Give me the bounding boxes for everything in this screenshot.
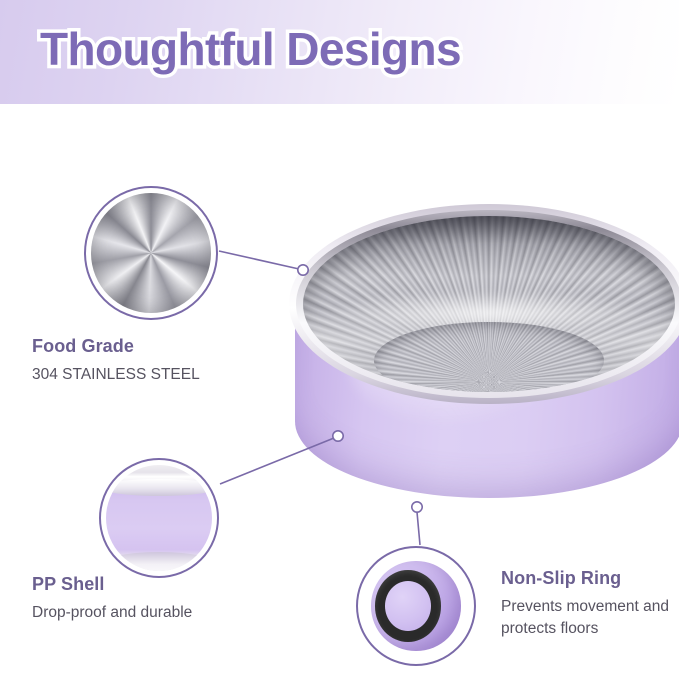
connector-line-non-slip-ring [417,512,420,545]
label-pp-shell-title: PP Shell [32,574,192,595]
black-rubber-ring-icon [363,553,469,659]
brushed-steel-disc-icon [91,193,211,313]
label-food-grade-title: Food Grade [32,336,200,357]
label-non-slip-ring: Non-Slip Ring Prevents movement and prot… [501,568,673,640]
callout-circle-pp-shell [99,458,219,578]
label-non-slip-ring-title: Non-Slip Ring [501,568,673,589]
bowl-underside [371,561,460,650]
rubber-ring-center [385,581,431,631]
label-non-slip-ring-description: Prevents movement and protects floors [501,596,673,640]
label-food-grade: Food Grade 304 STAINLESS STEEL [32,336,200,386]
bowl-interior-base-disc [374,322,605,392]
label-pp-shell: PP Shell Drop-proof and durable [32,574,192,624]
callout-circle-non-slip-ring [356,546,476,666]
callout-circle-food-grade [84,186,218,320]
connector-line-food-grade [219,251,299,269]
infographic-page: Thoughtful Designs [0,0,679,679]
rubber-ring [375,570,441,641]
bowl-steel-interior [303,216,675,392]
product-bowl-image [289,176,679,506]
lavender-shell-surface-icon [106,465,212,571]
shell-base-line [106,552,212,571]
label-pp-shell-description: Drop-proof and durable [32,602,192,624]
label-food-grade-description: 304 STAINLESS STEEL [32,364,200,386]
shell-rim-line [106,479,212,496]
page-title: Thoughtful Designs [40,22,461,76]
